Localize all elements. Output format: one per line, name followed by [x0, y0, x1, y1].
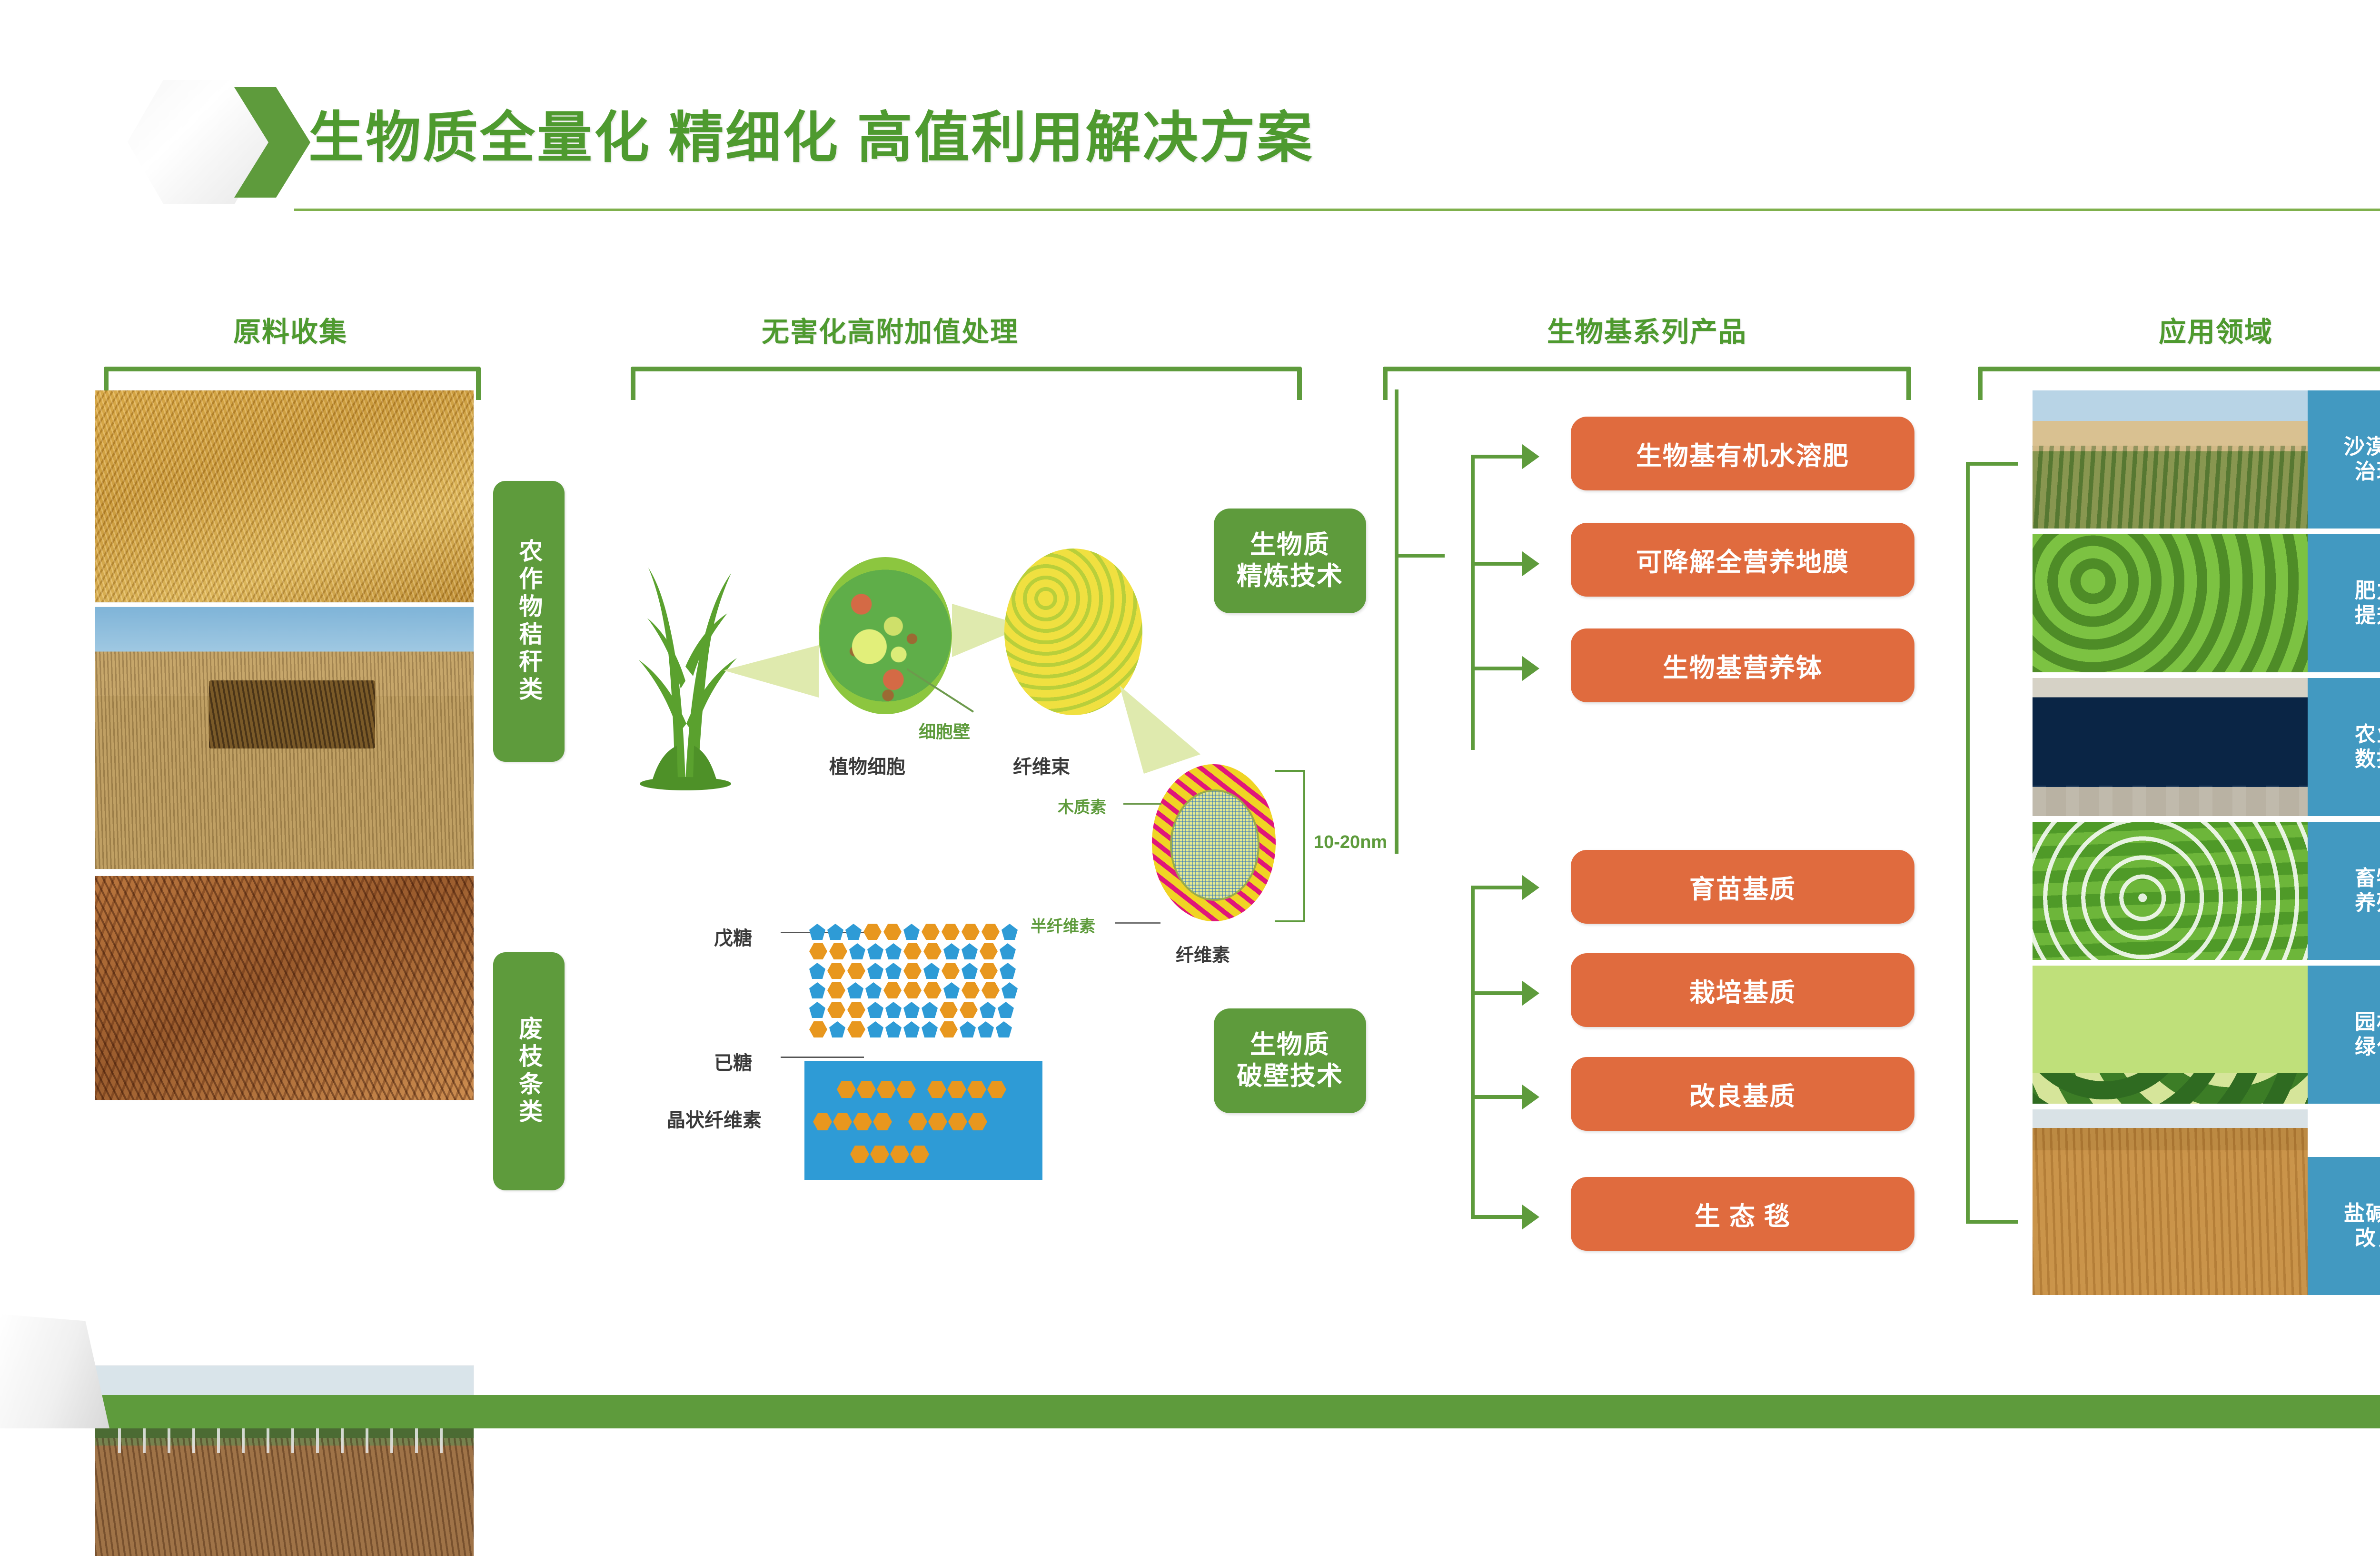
app-1-line1: 肥力 [2355, 579, 2380, 603]
section-header-collection: 原料收集 [143, 309, 438, 349]
leader-hemicellulose [1115, 922, 1160, 924]
app-3-line2: 养殖 [2355, 891, 2380, 916]
title-underline-divider [294, 209, 2380, 211]
photo-park-landscape [2033, 966, 2308, 1104]
tech-breaking-line2: 破壁技术 [1237, 1061, 1343, 1092]
footer-bar [0, 1395, 2380, 1428]
arrow-stem-product-5 [1471, 991, 1523, 995]
label-cellulose: 纤维素 [1176, 940, 1230, 967]
feedstock-label-crop-straw: 农作物秸秆类 [493, 481, 565, 762]
sugar-row [809, 982, 1018, 998]
cell-wall-leader-line [907, 667, 992, 719]
arrow-riser-products-1 [1471, 455, 1475, 750]
photo-vineyard-pruning [95, 1366, 474, 1556]
sugar-row [809, 963, 1018, 979]
connector-refining-stub-1 [1395, 554, 1445, 558]
arrow-head-product-3 [1522, 656, 1539, 681]
product-bio-based-nutrient-pot[interactable]: 生物基营养钵 [1571, 628, 1914, 702]
app-3-line1: 畜牧 [2355, 866, 2380, 891]
dimension-line-vertical [1303, 770, 1305, 922]
photo-desert-restoration [2033, 390, 2308, 529]
label-hexose: 已糖 [714, 1047, 752, 1075]
label-fiber-bundle: 纤维束 [1013, 751, 1070, 779]
page-title: 生物质全量化 精细化 高值利用解决方案 [308, 93, 1314, 173]
grass-plant-icon [614, 524, 757, 790]
sugar-row [809, 1021, 1018, 1037]
sugar-row [809, 924, 1018, 940]
product-seedling-substrate[interactable]: 育苗基质 [1571, 850, 1914, 924]
arrow-stem-product-6 [1471, 1095, 1523, 1099]
tech-box-refining[interactable]: 生物质 精炼技术 [1214, 509, 1366, 613]
app-4-line1: 园林 [2355, 1010, 2380, 1035]
arrow-riser-products-2 [1471, 886, 1475, 1219]
arrow-stem-product-2 [1471, 562, 1523, 566]
arrow-head-product-2 [1522, 551, 1539, 576]
application-label-landscaping[interactable]: 园林 绿化 [2308, 966, 2380, 1104]
label-lignin: 木质素 [1058, 794, 1106, 818]
app-2-line2: 数据 [2355, 747, 2380, 772]
cellulose-core [1170, 789, 1259, 901]
arrow-stem-product-7 [1471, 1215, 1523, 1219]
crystalline-cellulose-diagram [804, 1061, 1042, 1180]
sugar-row [809, 1002, 1018, 1018]
application-label-desertification-control[interactable]: 沙漠化 治理 [2308, 390, 2380, 529]
photo-cabbage-field [2033, 534, 2308, 672]
photo-corn-stover-field [95, 390, 474, 602]
label-cell-wall: 细胞壁 [919, 718, 970, 743]
tech-breaking-line1: 生物质 [1237, 1029, 1343, 1061]
app-5-line1: 盐碱地 [2344, 1201, 2380, 1226]
arrow-stem-product-1 [1471, 455, 1523, 459]
leader-lignin [1123, 803, 1161, 805]
label-pentose: 戊糖 [714, 923, 752, 950]
app-1-line2: 提升 [2355, 603, 2380, 628]
application-label-fertility-improvement[interactable]: 肥力 提升 [2308, 534, 2380, 672]
bracket-processing [631, 367, 1302, 400]
dimension-tick-bottom [1275, 920, 1305, 922]
product-degradable-nutrient-mulch-film[interactable]: 可降解全营养地膜 [1571, 523, 1914, 597]
footer-wedge-decoration [0, 1314, 109, 1428]
connector-refining-vertical [1395, 389, 1398, 854]
label-fiber-dimension: 10-20nm [1314, 832, 1387, 853]
label-plant-cell: 植物细胞 [829, 751, 905, 779]
photo-dry-branches [95, 876, 474, 1100]
app-0-line1: 沙漠化 [2344, 435, 2380, 459]
connector-applications-bottom [1966, 1220, 2018, 1224]
leader-hexose [781, 1057, 864, 1058]
photo-sheep-grazing [2033, 822, 2308, 960]
section-header-applications: 应用领域 [2018, 309, 2380, 349]
photo-saline-soil-field [2033, 1109, 2308, 1295]
section-header-products: 生物基系列产品 [1376, 309, 1918, 349]
tech-refining-line2: 精炼技术 [1237, 561, 1343, 592]
label-hemicellulose: 半纤维素 [1031, 913, 1095, 937]
app-4-line2: 绿化 [2355, 1035, 2380, 1059]
feedstock-label-waste-branches: 废枝条类 [493, 952, 565, 1190]
app-2-line1: 农业 [2355, 722, 2380, 747]
photo-straw-bale-field [95, 607, 474, 869]
section-header-processing: 无害化高附加值处理 [619, 309, 1161, 349]
page-header: 生物质全量化 精细化 高值利用解决方案 [0, 0, 2380, 224]
dimension-tick-top [1275, 770, 1305, 772]
connector-applications-vertical [1966, 462, 1970, 1224]
arrow-stem-product-4 [1471, 886, 1523, 889]
app-0-line2: 治理 [2344, 459, 2380, 484]
arrow-stem-product-3 [1471, 667, 1523, 670]
app-5-line2: 改良 [2344, 1226, 2380, 1251]
product-bio-organic-water-soluble-fertilizer[interactable]: 生物基有机水溶肥 [1571, 417, 1914, 490]
bracket-products [1383, 367, 1911, 400]
application-label-livestock-breeding[interactable]: 畜牧 养殖 [2308, 822, 2380, 960]
arrow-head-product-6 [1522, 1085, 1539, 1109]
product-improvement-substrate[interactable]: 改良基质 [1571, 1057, 1914, 1131]
sugar-row [809, 943, 1018, 959]
connector-applications-top [1966, 462, 2018, 466]
photo-data-control-room [2033, 678, 2308, 816]
arrow-head-product-1 [1522, 444, 1539, 469]
application-label-agricultural-data[interactable]: 农业 数据 [2308, 678, 2380, 816]
product-cultivation-substrate[interactable]: 栽培基质 [1571, 953, 1914, 1027]
sugar-chain-diagram [809, 924, 1018, 1041]
tech-box-cell-wall-breaking[interactable]: 生物质 破壁技术 [1214, 1008, 1366, 1113]
product-ecological-blanket[interactable]: 生 态 毯 [1571, 1177, 1914, 1251]
application-label-saline-alkali-improvement[interactable]: 盐碱地 改良 [2308, 1157, 2380, 1295]
arrow-head-product-5 [1522, 981, 1539, 1006]
zoom-beam-3 [1120, 686, 1200, 774]
arrow-head-product-7 [1522, 1205, 1539, 1229]
arrow-head-product-4 [1522, 875, 1539, 900]
label-crystalline-cellulose: 晶状纤维素 [666, 1105, 762, 1132]
tech-refining-line1: 生物质 [1237, 529, 1343, 561]
